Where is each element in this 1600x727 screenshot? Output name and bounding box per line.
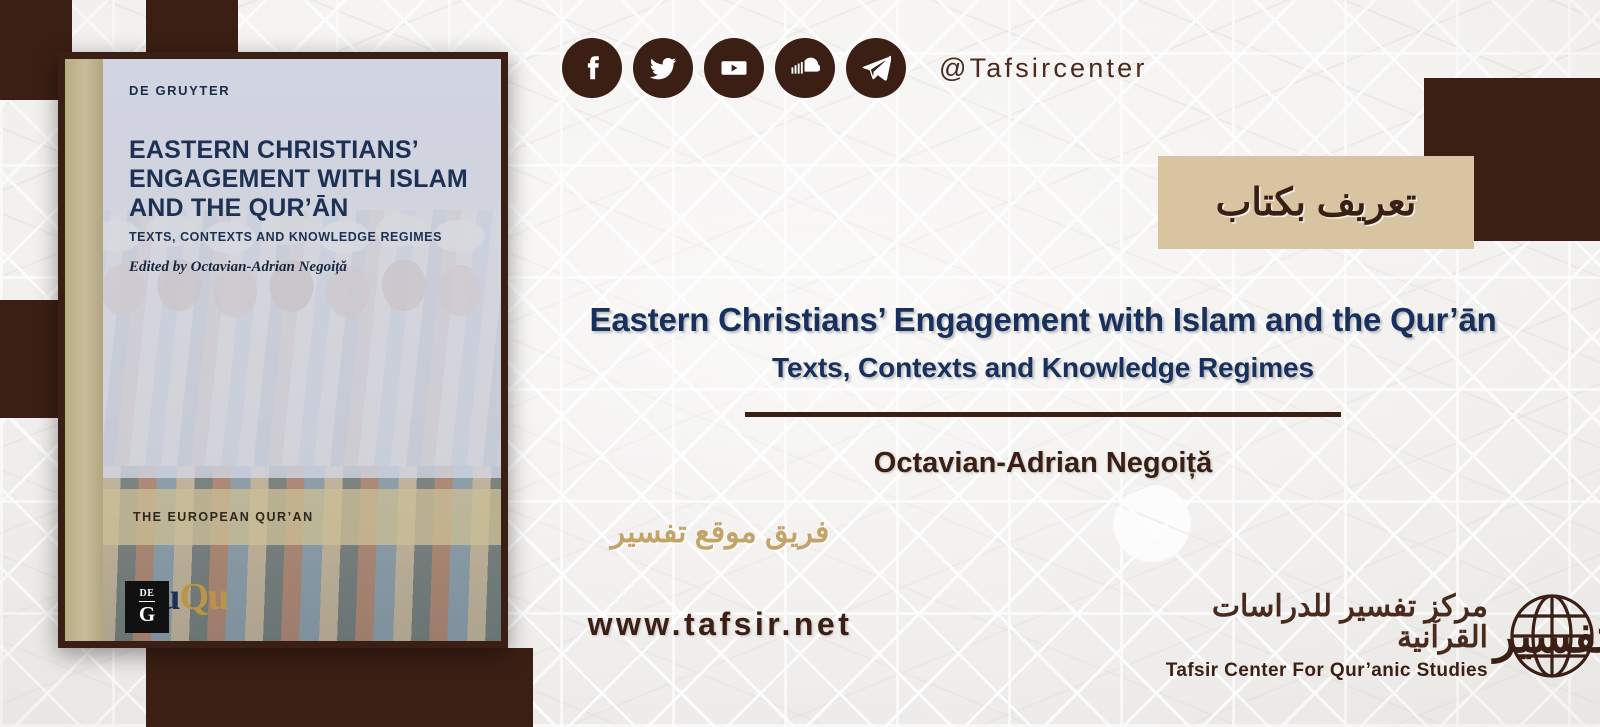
promo-banner: DE GRUYTER EASTERN CHRISTIANS’ ENGAGEMEN… xyxy=(0,0,1600,727)
book-series-label: THE EUROPEAN QUR’AN xyxy=(103,510,314,524)
logo-mark-arabic-word: تفسير xyxy=(1504,588,1600,684)
logo-text-block: مركز تفسير للدراسات القرآنية Tafsir Cent… xyxy=(1150,591,1488,682)
main-content: Eastern Christians’ Engagement with Isla… xyxy=(528,300,1558,480)
category-badge-label: تعريف بكتاب xyxy=(1216,180,1417,225)
book-cover-subtitle: TEXTS, CONTEXTS AND KNOWLEDGE REGIMES xyxy=(129,230,479,244)
author-name: Octavian-Adrian Negoiță xyxy=(528,447,1558,480)
soundcloud-icon[interactable] xyxy=(775,38,835,98)
website-url[interactable]: www.tafsir.net xyxy=(540,606,900,643)
book-cover-title-panel: DE GRUYTER EASTERN CHRISTIANS’ ENGAGEMEN… xyxy=(103,59,501,478)
book-publisher-name: DE GRUYTER xyxy=(129,83,479,98)
facebook-icon[interactable] xyxy=(562,38,622,98)
book-cover-title: EASTERN CHRISTIANS’ ENGAGEMENT WITH ISLA… xyxy=(129,136,479,223)
page-title: Eastern Christians’ Engagement with Isla… xyxy=(528,300,1558,340)
page-subtitle: Texts, Contexts and Knowledge Regimes xyxy=(528,352,1558,384)
book-cover-image: DE GRUYTER EASTERN CHRISTIANS’ ENGAGEMEN… xyxy=(58,52,508,648)
divider-rule xyxy=(745,412,1341,417)
globe-icon: تفسير xyxy=(1504,588,1600,684)
logo-english-name: Tafsir Center For Qur’anic Studies xyxy=(1150,660,1488,682)
de-gruyter-colophon: DE G xyxy=(125,581,169,633)
euqu-logo-suffix: Qu xyxy=(179,576,228,618)
twitter-icon[interactable] xyxy=(633,38,693,98)
logo-arabic-name: مركز تفسير للدراسات القرآنية xyxy=(1150,591,1488,654)
team-credit-text: فريق موقع تفسير xyxy=(560,515,880,550)
book-cover-inner: DE GRUYTER EASTERN CHRISTIANS’ ENGAGEMEN… xyxy=(65,59,501,641)
colophon-g-text: G xyxy=(139,604,155,625)
book-series-band: THE EUROPEAN QUR’AN xyxy=(103,489,501,545)
social-handle-text: @Tafsircenter xyxy=(939,53,1148,84)
youtube-icon[interactable] xyxy=(704,38,764,98)
social-media-bar: @Tafsircenter xyxy=(562,38,1148,98)
category-badge: تعريف بكتاب xyxy=(1158,156,1474,249)
book-cover-editor: Edited by Octavian-Adrian Negoiță xyxy=(129,259,479,276)
tafsir-center-logo: مركز تفسير للدراسات القرآنية Tafsir Cent… xyxy=(1150,588,1600,684)
decor-block-bottom xyxy=(238,648,533,727)
telegram-icon[interactable] xyxy=(846,38,906,98)
book-spine-strip xyxy=(65,59,103,641)
colophon-de-text: DE xyxy=(139,589,154,602)
decor-block-left-middle xyxy=(0,300,60,418)
